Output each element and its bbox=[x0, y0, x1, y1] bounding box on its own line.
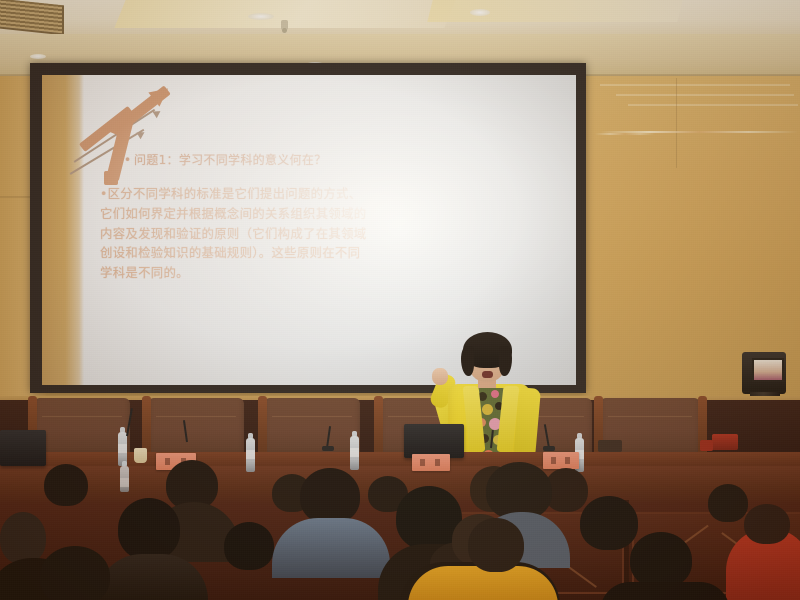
lecture-hall-photo: •问题1：学习不同学科的意义何在？ •区分不同学科的标准是它们提出问题的方式、 … bbox=[0, 0, 800, 600]
name-card bbox=[543, 452, 579, 469]
audience-head bbox=[44, 464, 88, 506]
wall-crack bbox=[595, 133, 655, 135]
audience-head bbox=[580, 496, 638, 550]
wall-seam bbox=[616, 94, 794, 96]
name-card bbox=[412, 454, 450, 471]
red-equipment-case bbox=[712, 434, 738, 450]
chair-arm bbox=[258, 396, 267, 458]
camera-monitor bbox=[752, 358, 784, 382]
audience-head bbox=[468, 518, 524, 572]
presenter-hair-side bbox=[499, 346, 512, 376]
presenter-mouth bbox=[482, 371, 493, 378]
laptop bbox=[404, 424, 464, 458]
presenter-hair-side bbox=[461, 346, 474, 376]
audience-shoulders-yellow bbox=[408, 566, 558, 600]
wall-seam bbox=[676, 78, 677, 168]
chair bbox=[34, 398, 130, 458]
downlight-icon bbox=[248, 13, 274, 20]
microphone-base bbox=[322, 446, 334, 451]
audience-head bbox=[744, 504, 790, 544]
downlight-icon bbox=[470, 9, 490, 16]
chair-arm bbox=[374, 396, 383, 458]
audience-head bbox=[300, 468, 360, 524]
sprinkler-icon bbox=[281, 20, 288, 30]
downlight-icon bbox=[30, 54, 46, 59]
wall-seam bbox=[600, 84, 790, 86]
chair bbox=[148, 398, 244, 458]
audience-shoulders bbox=[272, 518, 390, 578]
paper-cup bbox=[134, 448, 147, 463]
chair bbox=[264, 398, 360, 458]
presenter-left-arm bbox=[513, 387, 541, 459]
audience-head bbox=[630, 532, 692, 588]
audience-shoulders bbox=[600, 582, 730, 600]
audience-head bbox=[40, 546, 110, 600]
audience-head bbox=[0, 512, 46, 564]
wall-seam bbox=[628, 104, 798, 106]
audience-head bbox=[708, 484, 748, 522]
red-equipment-case bbox=[700, 440, 713, 451]
water-bottle bbox=[350, 436, 359, 470]
dark-object-on-table bbox=[598, 440, 622, 452]
audience-head bbox=[118, 498, 180, 560]
ceiling-light-glow-secondary bbox=[427, 0, 682, 22]
presenter-hand-with-mic bbox=[432, 368, 448, 385]
audience-head bbox=[224, 522, 274, 570]
laptop bbox=[0, 430, 46, 466]
water-bottle bbox=[246, 438, 255, 472]
microphone-base bbox=[543, 446, 555, 451]
audience bbox=[0, 470, 800, 600]
